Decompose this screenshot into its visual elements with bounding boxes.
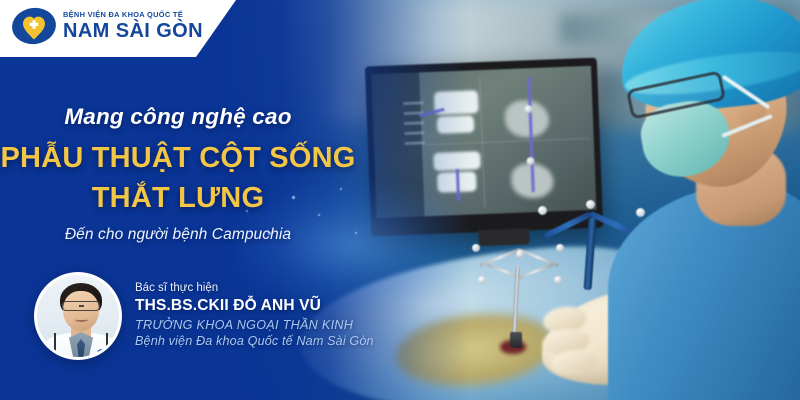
doctor-role: TRƯỞNG KHOA NGOẠI THẦN KINH xyxy=(135,318,374,332)
doctor-name: THS.BS.CKII ĐỖ ANH VŨ xyxy=(135,297,374,314)
portrait-glasses xyxy=(62,301,100,311)
surgeon-figure xyxy=(568,0,800,400)
heart-pin-cross-icon xyxy=(12,6,56,46)
logo-name: NAM SÀI GÒN xyxy=(63,21,203,41)
banner-root: BỆNH VIỆN ĐA KHOA QUỐC TẾ NAM SÀI GÒN Ma… xyxy=(0,0,800,400)
logo-text-block: BỆNH VIỆN ĐA KHOA QUỐC TẾ NAM SÀI GÒN xyxy=(63,11,203,41)
doctor-text-block: Bác sĩ thực hiện THS.BS.CKII ĐỖ ANH VŨ T… xyxy=(135,282,374,349)
headline-line-1: PHẪU THUẬT CỘT SỐNG xyxy=(0,142,356,175)
headline-kicker: Mang công nghệ cao xyxy=(0,104,356,130)
doctor-pretitle: Bác sĩ thực hiện xyxy=(135,282,374,295)
headline-subline: Đến cho người bệnh Campuchia xyxy=(0,226,356,244)
logo-tagline: BỆNH VIỆN ĐA KHOA QUỐC TẾ xyxy=(63,11,203,18)
headline-line-2: THẮT LƯNG xyxy=(0,182,356,215)
coat-badge xyxy=(97,349,106,357)
hospital-logo[interactable]: BỆNH VIỆN ĐA KHOA QUỐC TẾ NAM SÀI GÒN xyxy=(12,6,203,46)
doctor-organization: Bệnh viện Đa khoa Quốc tế Nam Sài Gòn xyxy=(135,334,374,348)
doctor-credit-block: Bác sĩ thực hiện THS.BS.CKII ĐỖ ANH VŨ T… xyxy=(34,272,374,360)
doctor-portrait xyxy=(34,272,122,360)
